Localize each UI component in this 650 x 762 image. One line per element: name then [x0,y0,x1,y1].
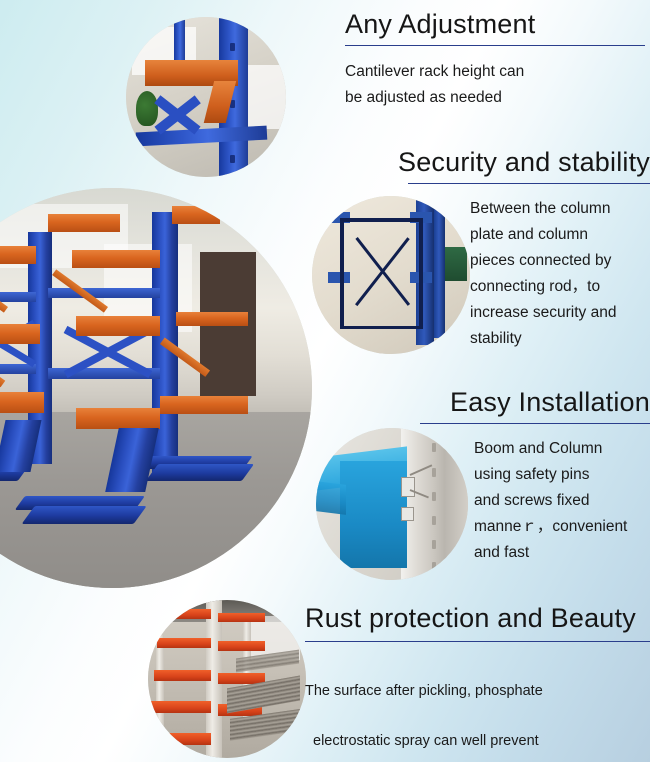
rack-base [146,464,254,481]
cantilever-arm [0,392,44,413]
connecting-beam [48,288,160,298]
cantilever-arm [76,408,160,429]
rack-base [21,506,146,524]
rust-photo-scene [148,600,306,758]
adjustment-photo [126,17,286,177]
section-installation: Easy Installation Boom and Column using … [330,388,650,566]
plant [136,91,158,126]
heading-rule [420,423,650,424]
connecting-beam [0,292,36,302]
body-rust-protection: The surface after pickling, phosphate el… [305,654,650,762]
body-easy-installation: Boom and Column using safety pins and sc… [474,436,650,566]
heading-rule [408,183,650,184]
heading-security-and-stability: Security and stability [330,148,650,178]
rust-protection-photo [148,600,306,758]
cantilever-arm [218,613,265,622]
column-slot [230,155,235,163]
body-security-and-stability: Between the column plate and column piec… [470,196,650,352]
section-security: Security and stability Between the colum… [330,148,650,352]
cantilever-arm [76,316,160,336]
section-rust-protection: Rust protection and Beauty The surface a… [305,604,650,762]
heading-rule [305,641,650,642]
cantilever-arm [151,701,211,713]
cantilever-arm [176,312,248,326]
cantilever-arm [218,641,265,651]
main-photo [0,188,312,588]
cantilever-arm [160,396,248,414]
cantilever-arm [157,638,211,648]
body-any-adjustment: Cantilever rack height can be adjusted a… [345,59,645,111]
cantilever-arm [0,246,36,264]
body-line-2: electrostatic spray can well prevent [305,729,650,754]
main-photo-scene [0,188,312,588]
product-infographic-poster: Any Adjustment Cantilever rack height ca… [0,0,650,762]
heading-rust-protection-and-beauty: Rust protection and Beauty [305,604,650,634]
body-line-1: The surface after pickling, phosphate [305,683,543,699]
cantilever-arm [0,324,40,344]
cantilever-arm [48,214,120,232]
heading-easy-installation: Easy Installation [330,388,650,418]
adjustment-photo-scene [126,17,286,177]
cantilever-arm [72,250,160,268]
cantilever-arm [172,206,220,224]
cantilever-arm [161,609,212,618]
section-adjustment: Any Adjustment Cantilever rack height ca… [345,10,645,111]
cantilever-arm [148,733,211,746]
column-slot [230,43,235,51]
wall-highlight [248,65,286,129]
heading-rule [345,45,645,46]
heading-any-adjustment: Any Adjustment [345,10,645,40]
cantilever-arm [154,670,211,681]
